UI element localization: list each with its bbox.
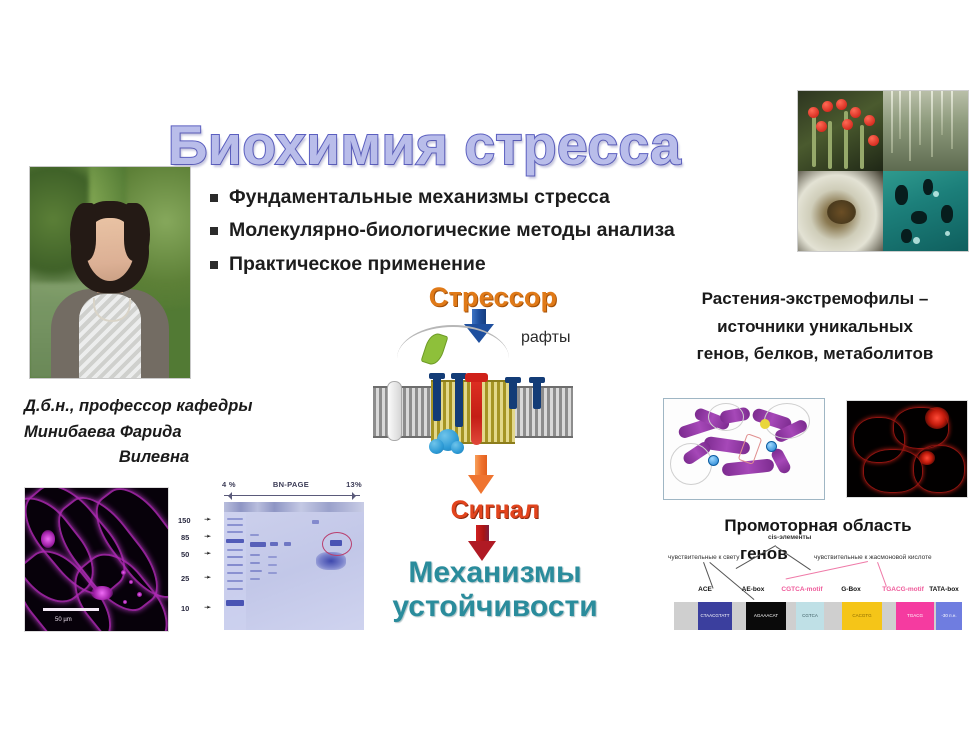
membrane-protein-channel (387, 381, 402, 441)
square-bullet-icon (210, 261, 218, 269)
extremophile-photo-collage (797, 90, 969, 252)
marker-lane (224, 512, 246, 630)
gel-body (224, 512, 364, 630)
zinc-ion (708, 455, 719, 466)
promoter-title-line-1: Промоторная область (668, 516, 968, 536)
transmembrane-protein-cap (529, 377, 545, 383)
connector-line (709, 562, 754, 600)
confocal-microscopy-image: 50 µm (24, 487, 169, 632)
bullet-text: Фундаментальные механизмы стресса (229, 185, 610, 209)
fluorescent-punctum (41, 530, 55, 548)
fluorescent-punctum (129, 580, 133, 584)
connector-line (877, 562, 887, 587)
light-sensitive-label: чувствительные к свету (668, 554, 739, 561)
fluorescent-punctum (123, 600, 127, 604)
collage-photo-lichen-filament (883, 91, 968, 171)
transmembrane-protein (455, 375, 463, 427)
marker-label: 10 (181, 604, 189, 613)
scale-bar (43, 608, 99, 611)
caption-line-3: генов, белков, метаболитов (655, 340, 975, 368)
down-arrow-orange-icon (468, 455, 494, 495)
protein-structure-image (663, 398, 825, 500)
collage-photo-leaf-damage (883, 171, 968, 251)
author-name-line: Минибаева Фарида (18, 420, 290, 446)
author-portrait-photo (29, 166, 191, 379)
rafts-label: рафты (521, 329, 570, 347)
transmembrane-protein-cap (429, 373, 445, 379)
cytoplasmic-subunit (451, 441, 464, 454)
promoter-region-diagram: Промоторная область cis-элементы генов ч… (668, 528, 968, 636)
gel-left-percent: 4 % (222, 480, 236, 489)
cis-elements-label: cis-элементы (768, 534, 811, 541)
gel-method-label: BN-PAGE (273, 480, 309, 489)
element-tag: TATA-box (920, 586, 968, 593)
caption-line-2: источники уникальных (655, 313, 975, 341)
bn-page-gel-image: 4 % BN-PAGE 13% (176, 480, 368, 635)
square-bullet-icon (210, 227, 218, 235)
bright-nucleus (925, 407, 949, 429)
transmembrane-protein (433, 375, 441, 421)
connector-line (786, 561, 868, 579)
mechanisms-line-2: устойчивости (392, 590, 597, 623)
bullet-text: Молекулярно-биологические методы анализа (229, 218, 675, 242)
collage-photo-lichen-red (798, 91, 883, 171)
square-bullet-icon (210, 194, 218, 202)
gel-top-strip (224, 502, 364, 512)
author-title-line: Д.б.н., профессор кафедры (18, 394, 290, 420)
marker-arrow-icon: ➛ (204, 548, 212, 559)
element-box: -30 п.н. (936, 602, 962, 630)
photo-hair-left (70, 203, 96, 261)
author-credentials: Д.б.н., профессор кафедры Минибаева Фари… (18, 394, 290, 471)
highlight-circle (322, 532, 352, 556)
marker-arrow-icon: ➛ (204, 602, 212, 613)
marker-arrow-icon: ➛ (204, 572, 212, 583)
sulfur-atom (760, 419, 770, 429)
element-tag: ACE (682, 586, 728, 593)
page-title: Биохимия стресса (168, 118, 768, 173)
marker-label: 25 (181, 574, 189, 583)
bright-nucleus (919, 451, 935, 465)
gel-header: 4 % BN-PAGE 13% (222, 480, 362, 489)
transmembrane-protein (533, 379, 541, 409)
signal-label: Сигнал (420, 496, 570, 525)
bullet-list: Фундаментальные механизмы стресса Молеку… (210, 185, 810, 285)
connector-line (703, 562, 714, 589)
marker-label: 150 (178, 516, 191, 525)
marker-arrow-icon: ➛ (204, 531, 212, 542)
marker-label: 85 (181, 533, 189, 542)
element-box: AGAAACAT (746, 602, 786, 630)
list-item: Молекулярно-биологические методы анализа (210, 218, 810, 242)
membrane-diagram: рафты (373, 369, 573, 455)
fluorescence-microscopy-image (846, 400, 968, 498)
list-item: Практическое применение (210, 252, 810, 276)
signal-protein-red (471, 375, 482, 445)
jasmonic-sensitive-label: чувствительные к жасмоновой кислоте (814, 554, 932, 561)
signal-protein-cap (465, 373, 488, 382)
element-box: TGACG (896, 602, 934, 630)
transmembrane-protein-cap (505, 377, 521, 383)
element-tag: CGTCA-motif (778, 586, 826, 593)
cytoplasmic-subunit (429, 439, 444, 454)
zinc-ion (766, 441, 777, 452)
collage-photo-lichen-rosette (798, 171, 883, 251)
fluorescent-punctum (121, 570, 126, 575)
gel-right-percent: 13% (346, 480, 362, 489)
caption-line-1: Растения-экстремофилы – (655, 285, 975, 313)
gradient-arrow-icon (224, 492, 360, 499)
transmembrane-protein (509, 379, 517, 409)
fluorescent-punctum (91, 586, 113, 600)
mechanisms-label: Механизмы устойчивости (375, 556, 615, 623)
scale-bar-label: 50 µm (55, 617, 72, 623)
extremophile-caption: Растения-экстремофилы – источники уникал… (655, 285, 975, 368)
element-tag: G-Box (828, 586, 874, 593)
marker-label: 50 (181, 550, 189, 559)
fluorescent-punctum (137, 592, 142, 597)
element-box: CGTCA (796, 602, 824, 630)
element-box: CACGTG (842, 602, 882, 630)
author-patronymic-line: Вилевна (18, 445, 290, 471)
marker-arrow-icon: ➛ (204, 514, 212, 525)
element-box: CTAACGTATT (698, 602, 732, 630)
presentation-slide: Биохимия стресса Фундаментальные механиз… (0, 0, 980, 735)
list-item: Фундаментальные механизмы стресса (210, 185, 810, 209)
bullet-text: Практическое применение (229, 252, 486, 276)
mechanisms-line-1: Механизмы (408, 556, 581, 589)
promoter-bar: CTAACGTATT AGAAACAT CGTCA CACGTG TGACG -… (674, 602, 962, 630)
element-tag: AE-box (730, 586, 776, 593)
